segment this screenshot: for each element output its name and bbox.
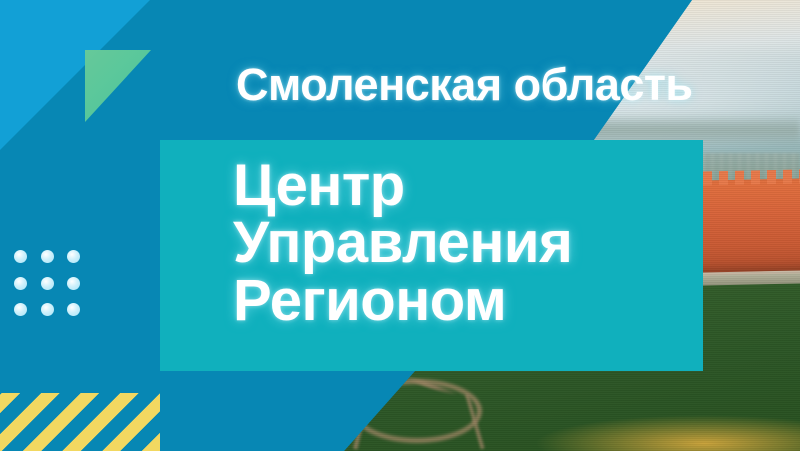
dot-icon <box>41 250 54 263</box>
page-title: Центр Управления Регионом <box>233 157 572 329</box>
region-subtitle: Смоленская область <box>236 62 693 107</box>
dot-icon <box>67 277 80 290</box>
dot-icon <box>41 277 54 290</box>
page-title-line-3: Регионом <box>233 272 572 329</box>
dot-icon <box>14 303 27 316</box>
dot-icon <box>14 250 27 263</box>
dot-icon <box>41 303 54 316</box>
dot-grid-icon <box>14 250 94 330</box>
region-management-center-banner: Смоленская область Центр Управления Реги… <box>0 0 800 451</box>
dot-icon <box>67 303 80 316</box>
diagonal-stripes-icon <box>0 393 160 451</box>
dot-icon <box>14 277 27 290</box>
dot-icon <box>67 250 80 263</box>
page-title-line-2: Управления <box>233 214 572 271</box>
page-title-line-1: Центр <box>233 157 572 214</box>
